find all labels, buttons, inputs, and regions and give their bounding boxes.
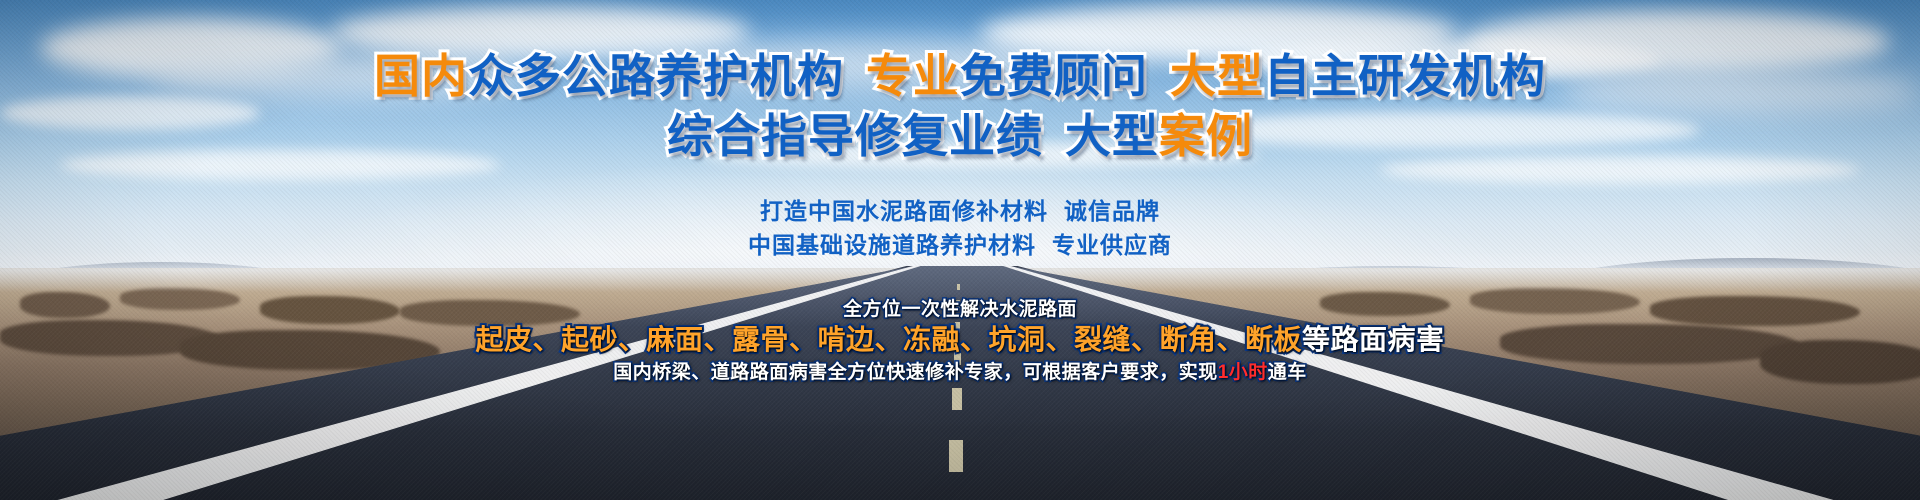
bottom-claim-pre: 国内桥梁、道路路面病害全方位快速修补专家，可根据客户要求，实现 [613, 362, 1218, 383]
text-overlay: 国内众多公路养护机构专业免费顾问大型自主研发机构 综合指导修复业绩大型案例 打造… [0, 0, 1920, 500]
subtitle-line-2: 中国基础设施道路养护材料专业供应商 [0, 226, 1920, 260]
headline-line-1: 国内众多公路养护机构专业免费顾问大型自主研发机构 [0, 40, 1920, 106]
bottom-claim-highlight: 1小时 [1218, 362, 1268, 383]
subtitle-2a: 中国基础设施道路养护材料 [748, 232, 1036, 258]
bottom-line-3: 国内桥梁、道路路面病害全方位快速修补专家，可根据客户要求，实现1小时通车 [0, 357, 1920, 384]
headline-line-2: 综合指导修复业绩大型案例 [0, 100, 1920, 166]
bottom-line-2: 起皮、起砂、麻面、露骨、啃边、冻融、坑洞、裂缝、断角、断板等路面病害 [0, 318, 1920, 358]
headline-seg-mianfei: 免费顾问 [960, 50, 1148, 102]
damage-types-list: 起皮、起砂、麻面、露骨、啃边、冻融、坑洞、裂缝、断角、断板 [475, 324, 1302, 355]
bottom-line-1: 全方位一次性解决水泥路面 [0, 294, 1920, 321]
headline-seg-zhuanye: 专业 [866, 50, 960, 102]
damage-types-suffix: 等路面病害 [1302, 324, 1445, 355]
headline-seg-anli: 案例 [1159, 110, 1253, 162]
headline-seg-daxing2: 大型 [1065, 110, 1159, 162]
bottom-headline: 全方位一次性解决水泥路面 [843, 299, 1077, 320]
headline-seg-zhongduo: 众多公路养护机构 [468, 50, 844, 102]
subtitle-1b: 诚信品牌 [1064, 198, 1160, 224]
headline-seg-guonei: 国内 [374, 50, 468, 102]
promo-banner: 国内众多公路养护机构专业免费顾问大型自主研发机构 综合指导修复业绩大型案例 打造… [0, 0, 1920, 500]
subtitle-line-1: 打造中国水泥路面修补材料诚信品牌 [0, 192, 1920, 226]
subtitle-1a: 打造中国水泥路面修补材料 [760, 198, 1048, 224]
headline-seg-zonghe: 综合指导修复业绩 [667, 110, 1043, 162]
headline-seg-yanfa: 自主研发机构 [1264, 50, 1546, 102]
headline-seg-daxing: 大型 [1170, 50, 1264, 102]
bottom-claim-post: 通车 [1268, 362, 1307, 383]
subtitle-2b: 专业供应商 [1052, 232, 1172, 258]
